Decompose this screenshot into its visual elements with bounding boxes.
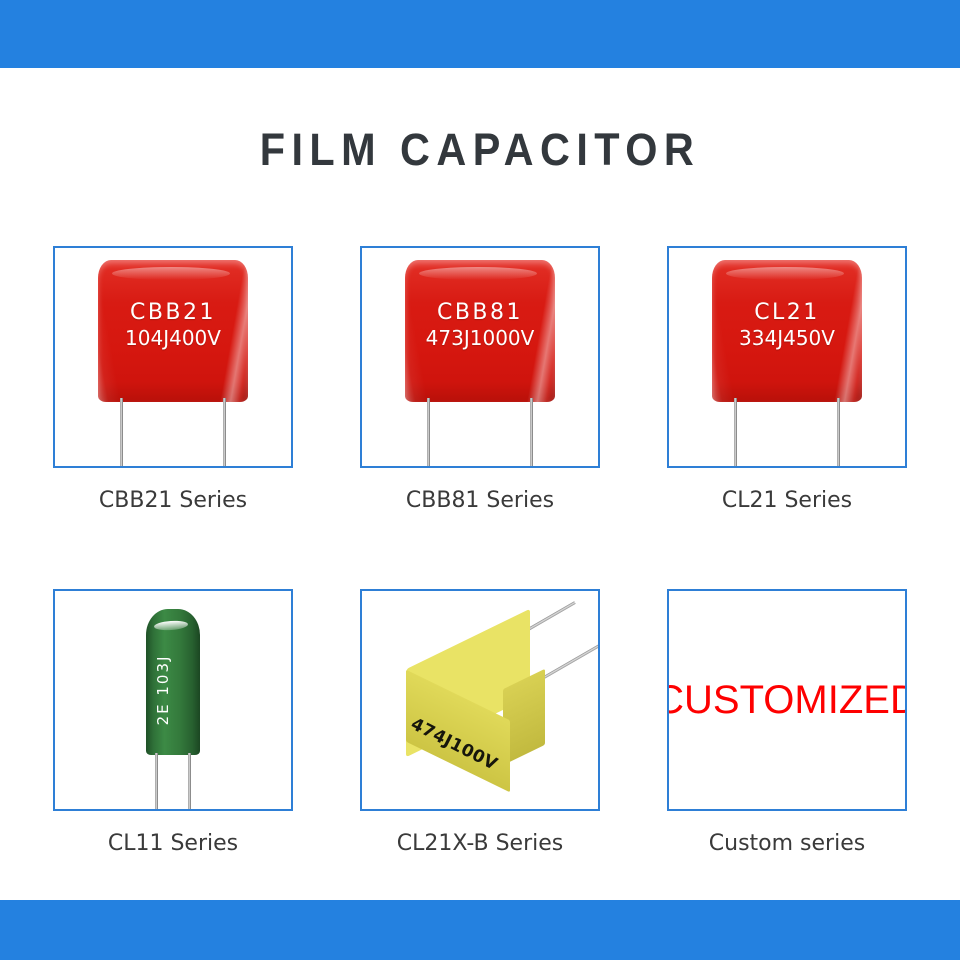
product-caption: CBB81 Series [360,488,600,514]
capacitor-marking-line2: 473J1000V [405,326,555,350]
capacitor-lead-right [223,398,226,468]
product-caption: CBB21 Series [53,488,293,514]
capacitor-lead-left [120,398,123,468]
product-caption: Custom series [667,831,907,857]
product-cell-cl21x-b[interactable]: 474J100V CL21X-B Series [360,589,600,857]
red-box-capacitor-icon: CBB21 104J400V [98,260,248,402]
capacitor-marking-line2: 334J450V [712,326,862,350]
capacitor-lead-left [427,398,430,468]
capacitor-lead-right [530,398,533,468]
customized-text: CUSTOMIZED [669,591,905,809]
capacitor-marking-line1: CBB21 [98,300,248,326]
red-box-capacitor-icon: CBB81 473J1000V [405,260,555,402]
capacitor-gloss-highlight [419,267,537,280]
capacitor-marking-line1: CL21 [712,300,862,326]
product-cell-custom[interactable]: CUSTOMIZED Custom series [667,589,907,857]
capacitor-lead-right [188,753,191,811]
top-banner-bar [0,0,960,68]
product-card-cl11[interactable]: 2E 103J [53,589,293,811]
product-card-cbb81[interactable]: CBB81 473J1000V [360,246,600,468]
product-grid: CBB21 104J400V CBB21 Series CBB81 473J10… [53,246,907,857]
product-cell-cbb81[interactable]: CBB81 473J1000V CBB81 Series [360,246,600,514]
capacitor-lead-left [155,753,158,811]
product-card-cl21[interactable]: CL21 334J450V [667,246,907,468]
capacitor-marking: CL21 334J450V [712,300,862,350]
product-caption: CL21X-B Series [360,831,600,857]
capacitor-lead-left [734,398,737,468]
capacitor-marking-line1: 2E 103J [154,635,172,745]
capacitor-marking-line1: CBB81 [405,300,555,326]
page-title: FILM CAPACITOR [38,124,921,176]
capacitor-marking: CBB81 473J1000V [405,300,555,350]
red-box-capacitor-icon: CL21 334J450V [712,260,862,402]
capacitor-gloss-highlight [726,267,844,280]
product-cell-cbb21[interactable]: CBB21 104J400V CBB21 Series [53,246,293,514]
bottom-banner-bar [0,900,960,960]
yellow-box-capacitor-icon: 474J100V [398,617,578,787]
green-radial-capacitor-icon: 2E 103J [138,609,208,799]
capacitor-marking-line2: 104J400V [98,326,248,350]
product-caption: CL21 Series [667,488,907,514]
product-card-cl21x-b[interactable]: 474J100V [360,589,600,811]
product-cell-cl21[interactable]: CL21 334J450V CL21 Series [667,246,907,514]
capacitor-gloss-highlight [112,267,230,280]
product-caption: CL11 Series [53,831,293,857]
product-cell-cl11[interactable]: 2E 103J CL11 Series [53,589,293,857]
product-card-custom[interactable]: CUSTOMIZED [667,589,907,811]
capacitor-lead-right [837,398,840,468]
capacitor-marking: CBB21 104J400V [98,300,248,350]
product-card-cbb21[interactable]: CBB21 104J400V [53,246,293,468]
